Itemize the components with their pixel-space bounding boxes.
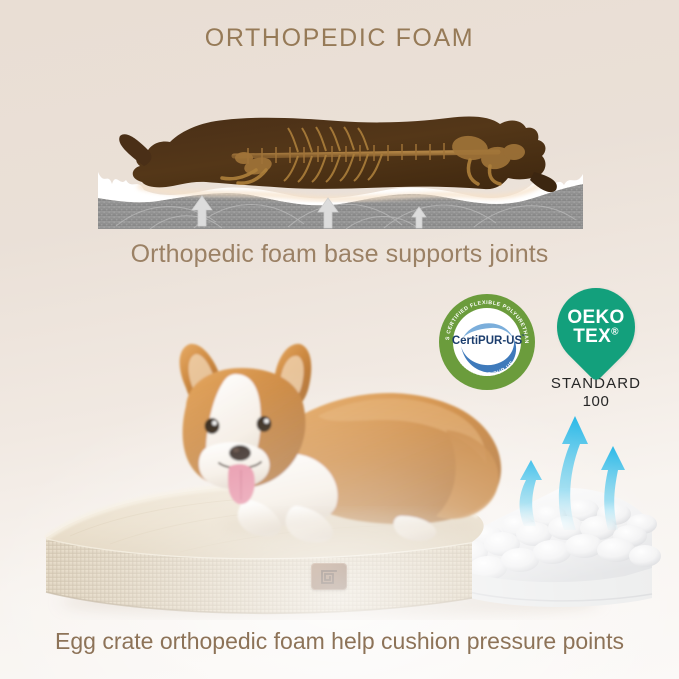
airflow-arrow-right xyxy=(601,446,625,530)
dog-skeleton-silhouette xyxy=(119,116,557,192)
footer-caption: Egg crate orthopedic foam help cushion p… xyxy=(0,628,679,655)
spiral-logo-icon xyxy=(319,569,339,585)
diagram-caption: Orthopedic foam base supports joints xyxy=(0,240,679,269)
oeko-tex-badge: OEKO TEX® STANDARD 100 xyxy=(548,288,644,408)
certipur-us-badge: CertiPUR-US ™ CONTAINS CERTIFIED FLEXIBL… xyxy=(437,292,537,392)
airflow-arrows xyxy=(508,398,643,533)
airflow-arrow-center xyxy=(559,416,588,530)
orthopedic-foam-cross-section-diagram xyxy=(98,86,583,236)
oeko-label-line2: TEX xyxy=(573,326,611,347)
brand-logo-patch xyxy=(311,563,347,590)
svg-text:CertiPUR-US: CertiPUR-US xyxy=(452,335,523,347)
oeko-label-line1: OEKO xyxy=(567,308,624,327)
infographic-canvas: ORTHOPEDIC FOAM xyxy=(0,0,679,679)
oeko-tex-droplet-icon: OEKO TEX® xyxy=(541,272,651,382)
page-title: ORTHOPEDIC FOAM xyxy=(0,24,679,53)
oeko-standard-text: STANDARD 100 xyxy=(548,375,644,410)
registered-mark: ® xyxy=(611,327,619,338)
oeko-standard-number: 100 xyxy=(548,393,644,411)
airflow-arrow-left xyxy=(520,460,542,526)
